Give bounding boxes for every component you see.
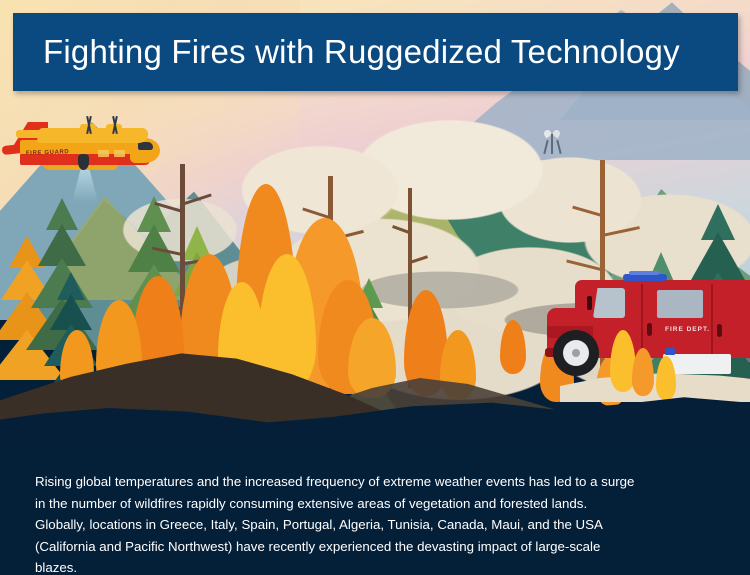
plane-panel [114,150,125,157]
truck-door-seam [641,284,643,356]
truck-front-wheel [553,330,599,376]
page-title: Fighting Fires with Ruggedized Technolog… [43,33,680,71]
plane-panel [98,150,109,157]
article-paragraph: Rising global temperatures and the incre… [35,471,635,575]
tower-leg-right [556,140,561,154]
truck-door-text: FIRE DEPT. [665,326,710,333]
truck-light-bar-top [629,271,659,275]
truck-light-bar [623,274,667,281]
firefighting-airplane: FIRE GUARD [2,114,162,186]
truck-door-handle [717,324,722,337]
plane-cockpit-window [138,142,153,150]
tower-mast [551,134,553,154]
truck-blue-marker [665,348,675,355]
tower-leg-left [543,140,548,154]
tower-dish-right [552,129,562,139]
communication-tower-icon [541,128,563,154]
water-drop-spray [72,168,98,202]
truck-side-window [657,290,703,318]
truck-windshield [593,288,625,318]
title-banner: Fighting Fires with Ruggedized Technolog… [13,13,738,91]
truck-door-seam [711,284,713,356]
body-text-panel: Rising global temperatures and the incre… [0,440,750,575]
plane-water-pod [78,154,89,170]
truck-side-mirror [587,296,592,310]
wildfire-article-page: FIRE GUARD FIRE DEPT. [0,0,750,575]
truck-door-handle [647,323,652,336]
